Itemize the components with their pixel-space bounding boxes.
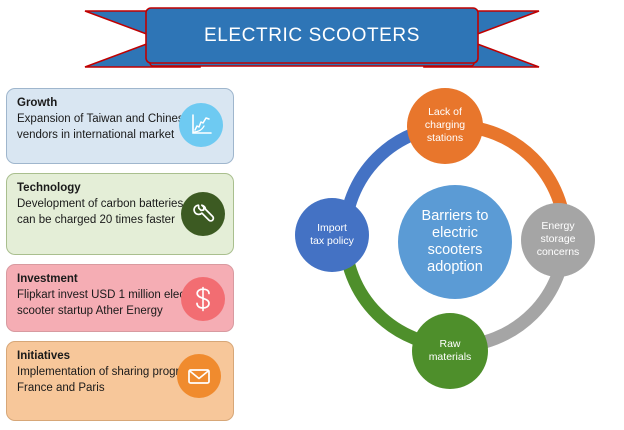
infographic-canvas: ELECTRIC SCOOTERS Growth Expansion of Ta… xyxy=(0,0,624,422)
dollar-sign-icon xyxy=(181,277,225,321)
cycle-diagram: Lack of charging stations Energy storage… xyxy=(286,80,616,420)
growth-chart-icon xyxy=(179,103,223,147)
banner: ELECTRIC SCOOTERS xyxy=(0,0,624,80)
card-technology[interactable]: Technology Development of carbon batteri… xyxy=(6,173,234,255)
page-title: ELECTRIC SCOOTERS xyxy=(146,8,478,63)
node-circle-top[interactable] xyxy=(407,88,483,164)
wrench-icon xyxy=(181,192,225,236)
card-growth[interactable]: Growth Expansion of Taiwan and Chinese v… xyxy=(6,88,234,164)
node-circle-left[interactable] xyxy=(295,198,369,272)
card-initiatives[interactable]: Initiatives Implementation of sharing pr… xyxy=(6,341,234,421)
center-circle[interactable] xyxy=(398,185,512,299)
card-investment[interactable]: Investment Flipkart invest USD 1 million… xyxy=(6,264,234,332)
feature-card-list: Growth Expansion of Taiwan and Chinese v… xyxy=(6,88,234,430)
envelope-icon xyxy=(177,354,221,398)
node-circle-right[interactable] xyxy=(521,203,595,277)
node-circle-bottom[interactable] xyxy=(412,313,488,389)
